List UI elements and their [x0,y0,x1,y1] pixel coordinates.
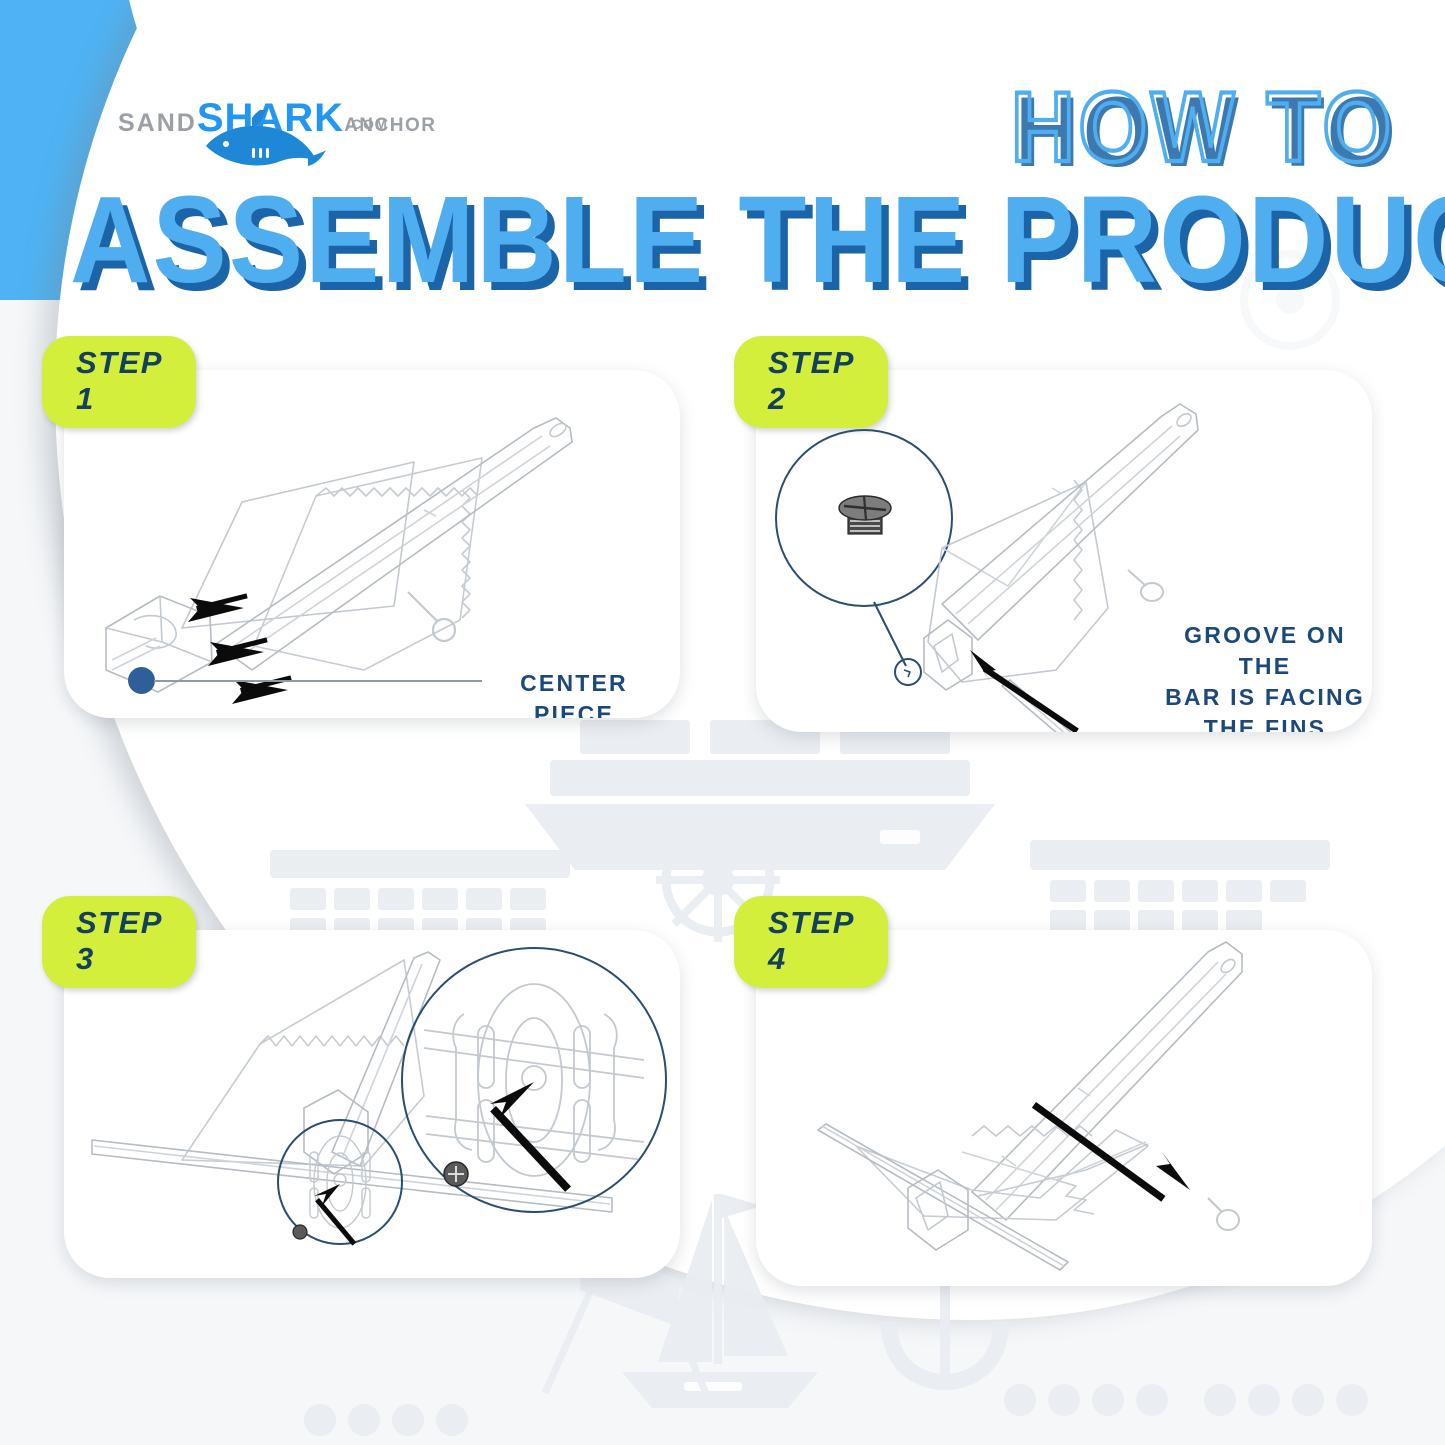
page-title: ASSEMBLE THE PRODUCT [70,178,1445,302]
logo-text-sand: SAND [118,109,197,137]
step-2-badge: STEP 2 [734,336,888,428]
screw-arrow-small [293,1184,356,1246]
step-3-badge: STEP 3 [42,896,196,988]
step-4-badge: STEP 4 [734,896,888,988]
center-piece-label: CENTER PIECE [484,668,664,718]
direction-arrows [188,593,292,704]
logo-text-com: .COM [346,116,389,132]
step-1-badge: STEP 1 [42,336,196,428]
brand-logo[interactable]: SANDSHARKANCHOR .COM [118,90,428,160]
page-header: SANDSHARKANCHOR .COM HOW TO AS [0,0,1445,310]
shark-logo-icon [196,110,326,170]
screw-icon [839,496,891,534]
groove-note-label: GROOVE ON THE BAR IS FACING THE FINS [1154,620,1372,732]
pin-removal-arrow [1032,1102,1190,1202]
infographic-canvas: SANDSHARKANCHOR .COM HOW TO AS [0,0,1445,1445]
center-piece-leader-line [154,680,482,682]
center-piece-leader-dot [128,667,155,694]
screw-arrow-big [444,1082,571,1192]
title-line-how-to: HOW TO [1011,78,1395,178]
